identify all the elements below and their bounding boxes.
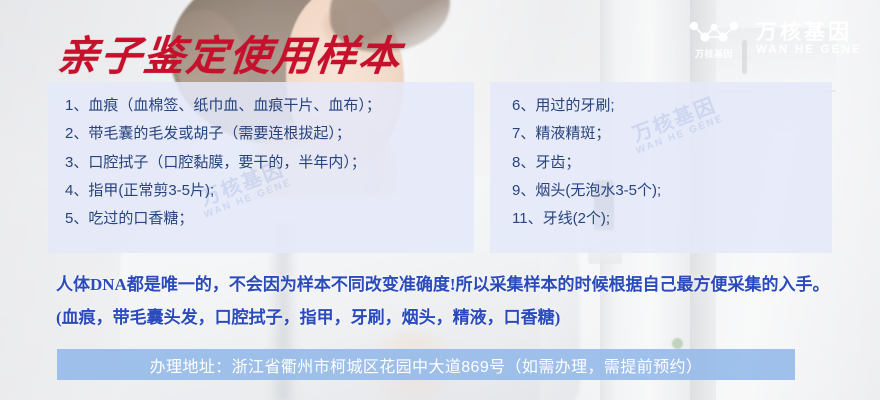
- list-item: 1、血痕（血棉签、纸巾血、血痕干片、血布）；: [65, 98, 474, 113]
- molecule-icon: [686, 18, 742, 44]
- address-bar-text: 办理地址：浙江省衢州市柯城区花园中大道869号（如需办理，需提前预约）: [150, 353, 703, 377]
- sample-list-left: 1、血痕（血棉签、纸巾血、血痕干片、血布）； 2、带毛囊的毛发或胡子（需要连根拔…: [48, 82, 474, 226]
- poster-root: 亲子鉴定使用样本: [0, 0, 880, 400]
- brand-logo: 万核基因 万核基因 WAN HE GENE: [686, 18, 862, 60]
- list-item: 8、牙齿；: [512, 155, 832, 170]
- list-item: 11、牙线(2个);: [512, 211, 832, 226]
- list-item: 4、指甲(正常剪3-5片);: [65, 183, 474, 198]
- list-item: 6、用过的牙刷;: [512, 98, 832, 113]
- explanatory-paragraph: 人体DNA都是唯一的，不会因为样本不同改变准确度!所以采集样本的时候根据自己最方…: [56, 268, 846, 334]
- logo-mark-label: 万核基因: [695, 47, 733, 60]
- page-title: 亲子鉴定使用样本: [55, 22, 405, 82]
- logo-wordmark: 万核基因 WAN HE GENE: [756, 21, 862, 57]
- sample-panel-left: 万核基因 WAN HE GENE 1、血痕（血棉签、纸巾血、血痕干片、血布）； …: [48, 82, 474, 253]
- sample-list-right: 6、用过的牙刷; 7、精液精斑； 8、牙齿； 9、烟头(无泡水3-5个); 11…: [490, 82, 832, 226]
- list-item: 5、吃过的口香糖；: [65, 211, 474, 226]
- list-item: 3、口腔拭子（口腔黏膜，要干的，半年内）；: [65, 155, 474, 170]
- logo-brand-en: WAN HE GENE: [756, 44, 862, 57]
- list-item: 9、烟头(无泡水3-5个);: [512, 183, 832, 198]
- logo-mark: 万核基因: [686, 18, 742, 60]
- list-item: 2、带毛囊的毛发或胡子（需要连根拔起）；: [65, 126, 474, 141]
- sample-panel-right: 万核基因 WAN HE GENE 6、用过的牙刷; 7、精液精斑； 8、牙齿； …: [490, 82, 832, 253]
- logo-brand-cn: 万核基因: [756, 21, 852, 45]
- address-bar: 办理地址：浙江省衢州市柯城区花园中大道869号（如需办理，需提前预约）: [57, 349, 795, 380]
- list-item: 7、精液精斑；: [512, 126, 832, 141]
